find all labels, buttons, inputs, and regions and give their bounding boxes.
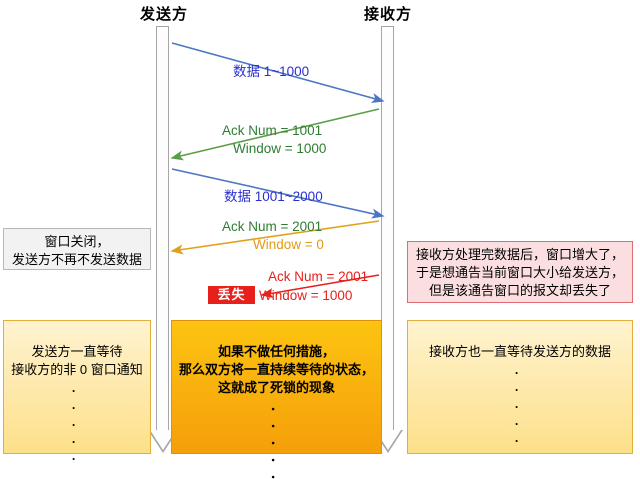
lost-packet-badge: 丢失 [208, 286, 255, 304]
diagram-canvas: 发送方 接收方 [0, 0, 640, 479]
label-data-1: 数据 1~1000 [233, 63, 309, 80]
sender-timeline-arrow [156, 26, 171, 453]
sender-column-header: 发送方 [118, 3, 210, 24]
note-sender-waiting-dots: ． ． ． ． ． [9, 379, 145, 464]
note-window-closed: 窗口关闭， 发送方不再不发送数据 [3, 228, 151, 270]
label-ack-num-2001-second: Ack Num = 2001 [268, 268, 368, 285]
label-window-1000-first: Window = 1000 [233, 140, 326, 157]
note-receiver-waiting: 接收方也一直等待发送方的数据 ． ． ． ． ． [407, 320, 633, 454]
label-window-zero: Window = 0 [253, 236, 324, 253]
note-sender-waiting: 发送方一直等待 接收方的非 0 窗口通知 ． ． ． ． ． [3, 320, 151, 454]
note-receiver-waiting-text: 接收方也一直等待发送方的数据 [429, 344, 611, 359]
note-receiver-waiting-dots: ． ． ． ． ． [413, 361, 627, 446]
note-sender-waiting-text: 发送方一直等待 接收方的非 0 窗口通知 [11, 344, 142, 377]
sender-timeline-shaft [156, 26, 169, 431]
label-ack-num-2001-first: Ack Num = 2001 [222, 218, 322, 235]
note-deadlock-text: 如果不做任何措施， 那么双方将一直持续等待的状态， 这就成了死锁的现象 [179, 344, 374, 395]
label-ack-num-1001: Ack Num = 1001 [222, 122, 322, 139]
receiver-column-header: 接收方 [342, 3, 434, 24]
note-deadlock: 如果不做任何措施， 那么双方将一直持续等待的状态， 这就成了死锁的现象 ． ． … [171, 320, 382, 454]
label-data-2: 数据 1001~2000 [224, 188, 323, 205]
note-deadlock-dots: ． ． ． ． ． [177, 397, 376, 479]
note-receiver-window-grew: 接收方处理完数据后，窗口增大了， 于是想通告当前窗口大小给发送方， 但是该通告窗… [407, 241, 633, 303]
label-window-1000-second: Window = 1000 [259, 287, 352, 304]
receiver-timeline-arrow [381, 26, 396, 453]
receiver-timeline-shaft [381, 26, 394, 431]
